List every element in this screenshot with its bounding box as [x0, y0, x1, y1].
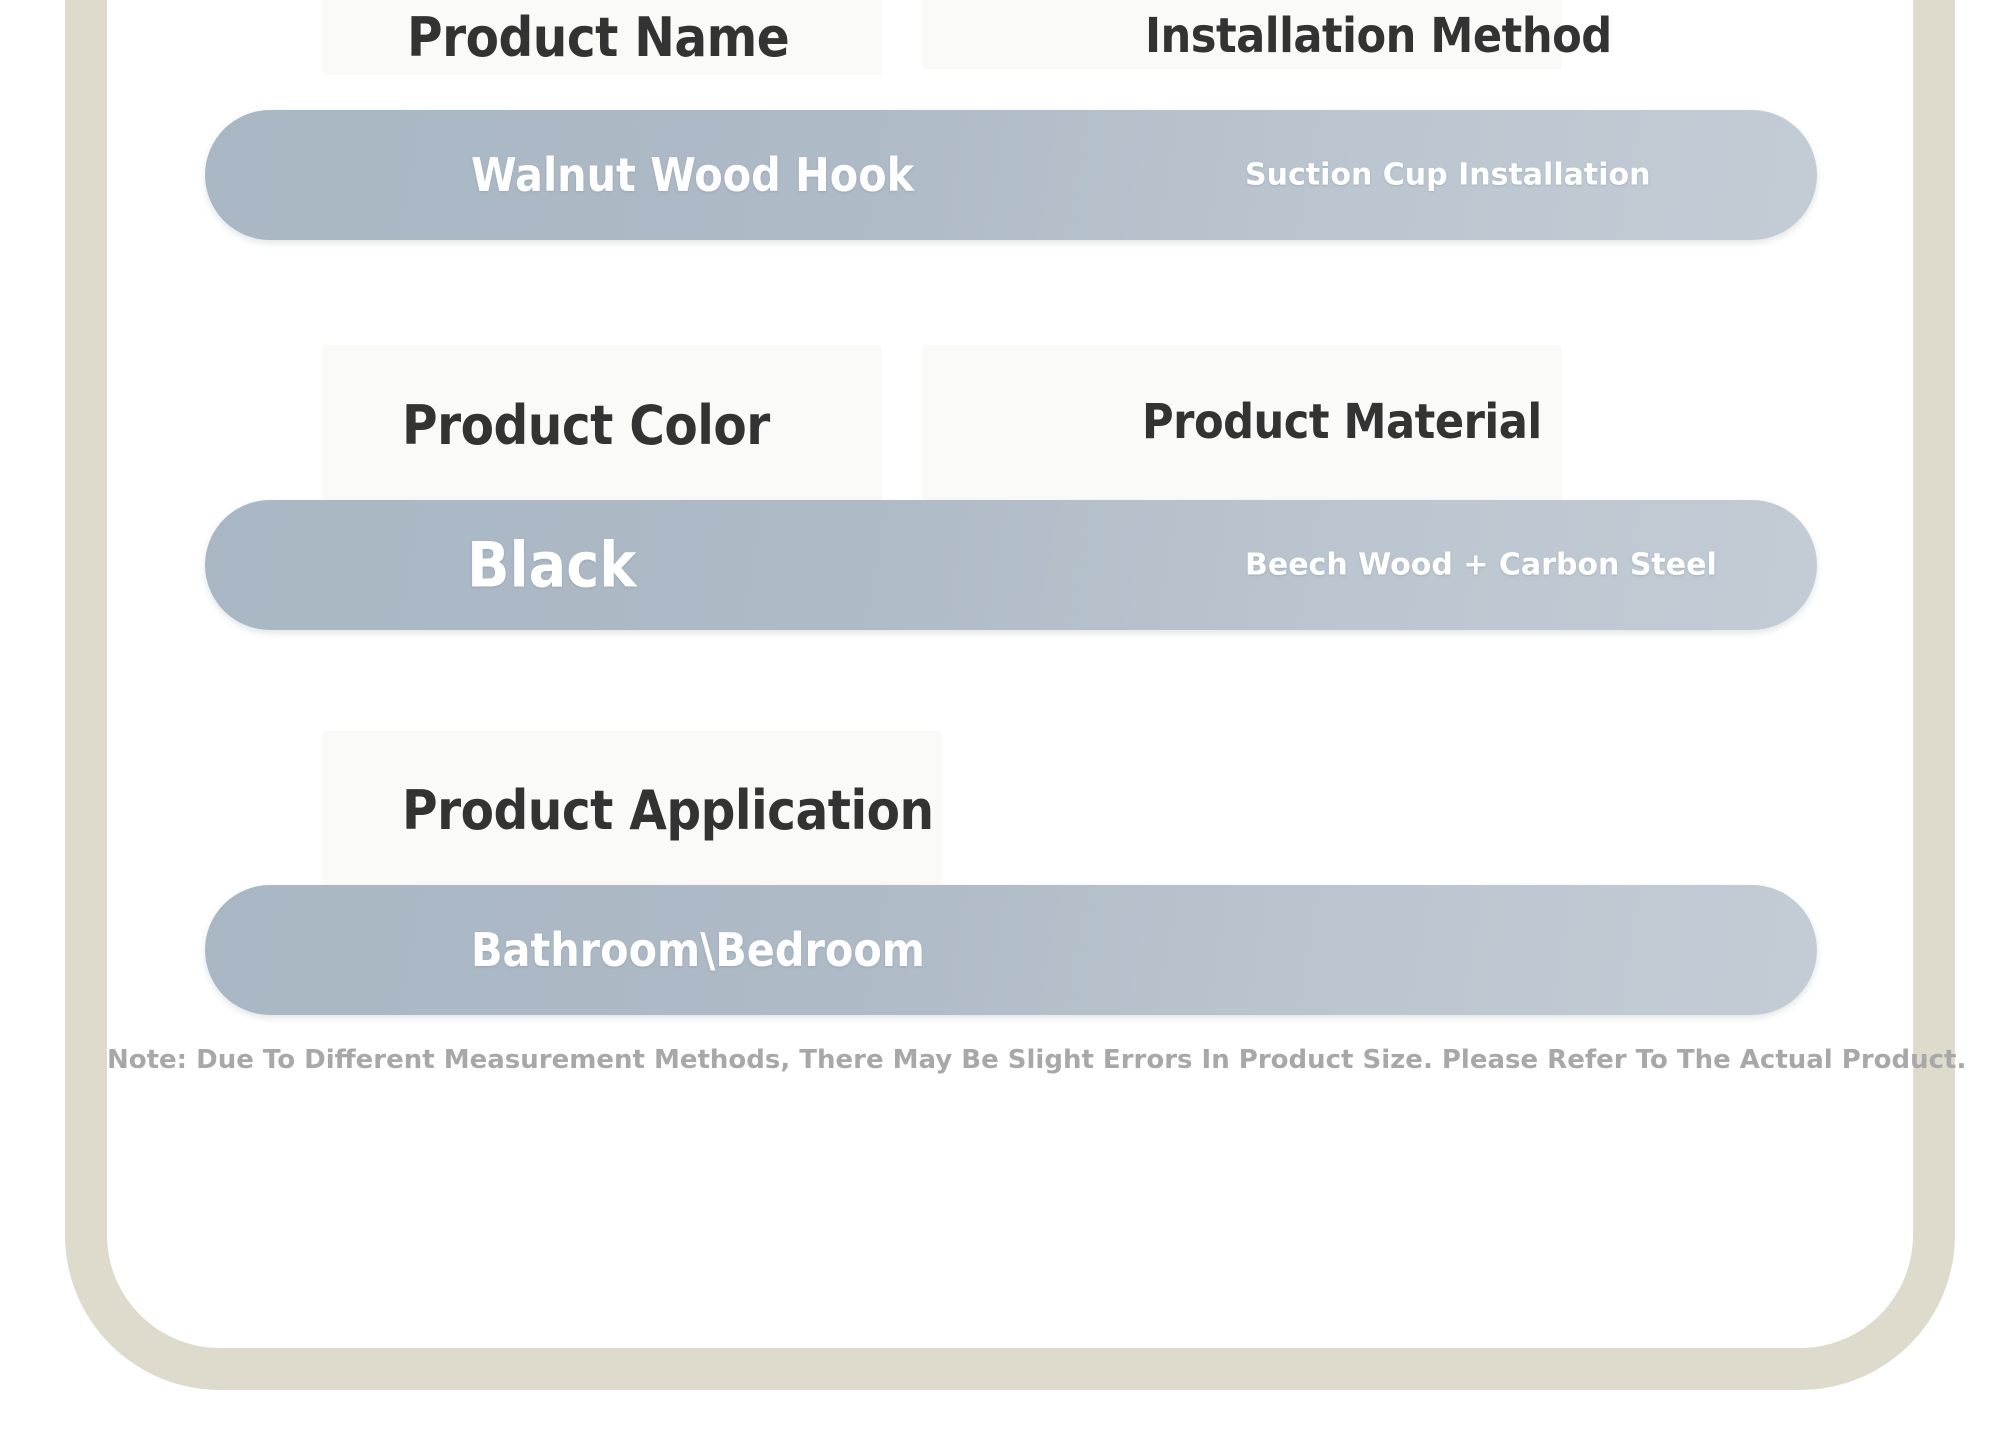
- spec-pill-product-name[interactable]: Walnut Wood Hook Suction Cup Installatio…: [205, 110, 1817, 240]
- spec-value-product-application: Bathroom\Bedroom: [471, 923, 925, 977]
- spec-value-installation-method: Suction Cup Installation: [1245, 158, 1650, 193]
- measurement-disclaimer-note: Note: Due To Different Measurement Metho…: [107, 1045, 1913, 1075]
- spec-row-product-color: Product Color Product Material Black Bee…: [107, 390, 1913, 640]
- spec-label-installation-method: Installation Method: [1145, 8, 1612, 64]
- spec-value-product-name: Walnut Wood Hook: [471, 148, 914, 202]
- spec-value-product-material: Beech Wood + Carbon Steel: [1245, 548, 1717, 583]
- row1-headings: Product Name Installation Method: [107, 0, 1913, 80]
- spec-value-product-color: Black: [467, 529, 636, 602]
- spec-pill-product-application[interactable]: Bathroom\Bedroom: [205, 885, 1817, 1015]
- spec-label-product-name: Product Name: [407, 6, 789, 69]
- spec-label-product-material: Product Material: [1142, 394, 1542, 450]
- spec-label-product-application: Product Application: [402, 779, 934, 842]
- spec-label-product-color: Product Color: [402, 394, 770, 457]
- spec-row-product-name: Product Name Installation Method Walnut …: [107, 0, 1913, 250]
- row3-headings: Product Application: [107, 775, 1913, 855]
- row2-headings: Product Color Product Material: [107, 390, 1913, 470]
- spec-row-product-application: Product Application Bathroom\Bedroom: [107, 775, 1913, 1025]
- spec-pill-product-color[interactable]: Black Beech Wood + Carbon Steel: [205, 500, 1817, 630]
- product-spec-sheet: Product Name Installation Method Walnut …: [107, 0, 1913, 1436]
